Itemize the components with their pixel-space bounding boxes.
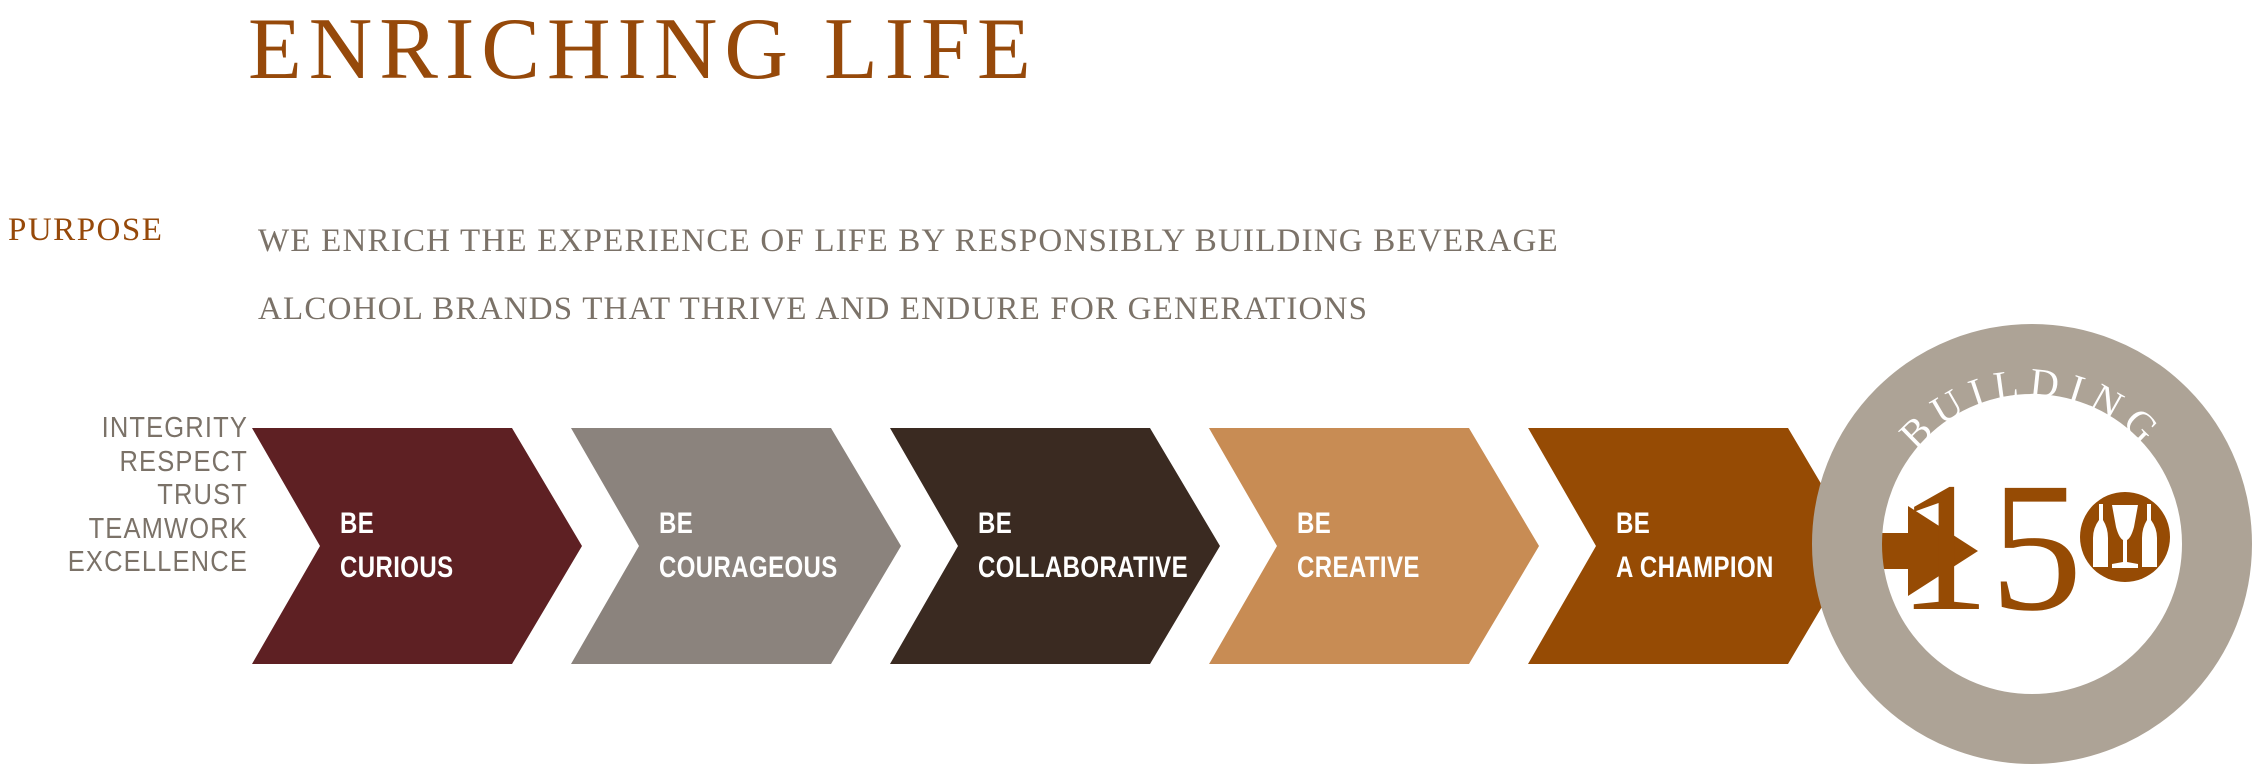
bottles-and-glass-icon: [2080, 492, 2170, 582]
chevron-label-line1: BE: [340, 507, 374, 540]
chevron-label-line1: BE: [1616, 507, 1650, 540]
value-item-respect: RESPECT: [39, 446, 248, 480]
behaviors-chevron-row: BE CURIOUS BE COURAGEOUS BE COLLABORATIV…: [252, 428, 1752, 664]
chevron-label-line2: A CHAMPION: [1616, 546, 1774, 590]
chevron-label: BE A CHAMPION: [1616, 502, 1774, 590]
chevron-label-line1: BE: [978, 507, 1012, 540]
purpose-line-1: WE ENRICH THE EXPERIENCE OF LIFE BY RESP…: [258, 207, 1818, 275]
chevron-label: BE COLLABORATIVE: [978, 502, 1188, 590]
chevron-label: BE COURAGEOUS: [659, 502, 838, 590]
chevron-be-courageous[interactable]: BE COURAGEOUS: [571, 428, 901, 664]
value-item-excellence: EXCELLENCE: [39, 546, 248, 580]
page-title: ENRICHING LIFE: [248, 2, 1038, 98]
chevron-label: BE CURIOUS: [340, 502, 453, 590]
chevron-label-line2: COLLABORATIVE: [978, 546, 1188, 590]
chevron-label-line1: BE: [1297, 507, 1331, 540]
chevron-label-line2: COURAGEOUS: [659, 546, 838, 590]
purpose-label: PURPOSE: [8, 212, 163, 248]
value-item-teamwork: TEAMWORK: [39, 513, 248, 547]
chevron-label-line2: CURIOUS: [340, 546, 453, 590]
chevron-be-curious[interactable]: BE CURIOUS: [252, 428, 582, 664]
building-forever-logo: BUILDING FOREVER 15: [1812, 324, 2252, 764]
chevron-label: BE CREATIVE: [1297, 502, 1420, 590]
chevron-be-collaborative[interactable]: BE COLLABORATIVE: [890, 428, 1220, 664]
purpose-line-2: ALCOHOL BRANDS THAT THRIVE AND ENDURE FO…: [258, 275, 1818, 343]
value-item-integrity: INTEGRITY: [39, 412, 248, 446]
values-list: INTEGRITY RESPECT TRUST TEAMWORK EXCELLE…: [10, 412, 248, 580]
chevron-be-creative[interactable]: BE CREATIVE: [1209, 428, 1539, 664]
purpose-statement: WE ENRICH THE EXPERIENCE OF LIFE BY RESP…: [258, 207, 1818, 343]
chevron-label-line1: BE: [659, 507, 693, 540]
logo-number: 15: [1898, 445, 2083, 650]
value-item-trust: TRUST: [39, 479, 248, 513]
chevron-label-line2: CREATIVE: [1297, 546, 1420, 590]
